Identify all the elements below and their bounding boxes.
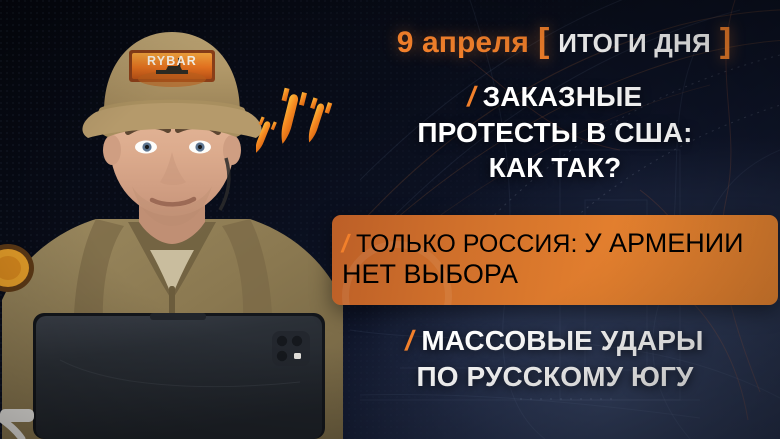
headline-text: КАК ТАК? [330,153,780,183]
date-text: 9 апреля [397,26,529,60]
slash-marker: / [403,326,417,356]
headline-text: ПРОТЕСТЫ В США: [330,118,780,148]
headline-text: ТОЛЬКО РОССИЯ: [356,230,577,258]
date-header: 9 апреля [ ИТОГИ ДНЯ ] [348,24,780,60]
tablet-device [33,313,325,439]
headline-armenia-highlight[interactable]: /ТОЛЬКО РОССИЯ: У АРМЕНИИ НЕТ ВЫБОРА [332,215,778,305]
slash-marker: / [465,82,479,112]
svg-text:RYBAR: RYBAR [147,54,197,68]
video-thumbnail: RYBAR [0,0,780,439]
headline-text: ЗАКАЗНЫЕ [483,81,643,112]
headline-line: /ЗАКАЗНЫЕ [330,82,780,112]
headline-text: МАССОВЫЕ УДАРЫ [421,325,703,356]
falling-bomb-icon [271,88,307,147]
presenter-figure: RYBAR [0,0,345,439]
headline-column: 9 апреля [ ИТОГИ ДНЯ ] /ЗАКАЗНЫЕ ПРОТЕСТ… [330,0,780,439]
bracket-close: ] [720,24,731,58]
falling-bomb-icon [300,97,332,145]
headline-line: /МАССОВЫЕ УДАРЫ [330,326,780,356]
slash-marker: / [339,230,352,259]
headline-line: /ТОЛЬКО РОССИЯ: [342,230,584,258]
headline-text: ПО РУССКОМУ ЮГУ [330,362,780,392]
bracket-open: [ [538,24,549,58]
summary-tag: ИТОГИ ДНЯ [558,28,711,59]
falling-bomb-icon [256,116,277,156]
falling-bomb-icons [256,84,340,160]
headline-strikes[interactable]: /МАССОВЫЕ УДАРЫ ПО РУССКОМУ ЮГУ [330,326,780,391]
headline-protests[interactable]: /ЗАКАЗНЫЕ ПРОТЕСТЫ В США: КАК ТАК? [330,82,780,183]
